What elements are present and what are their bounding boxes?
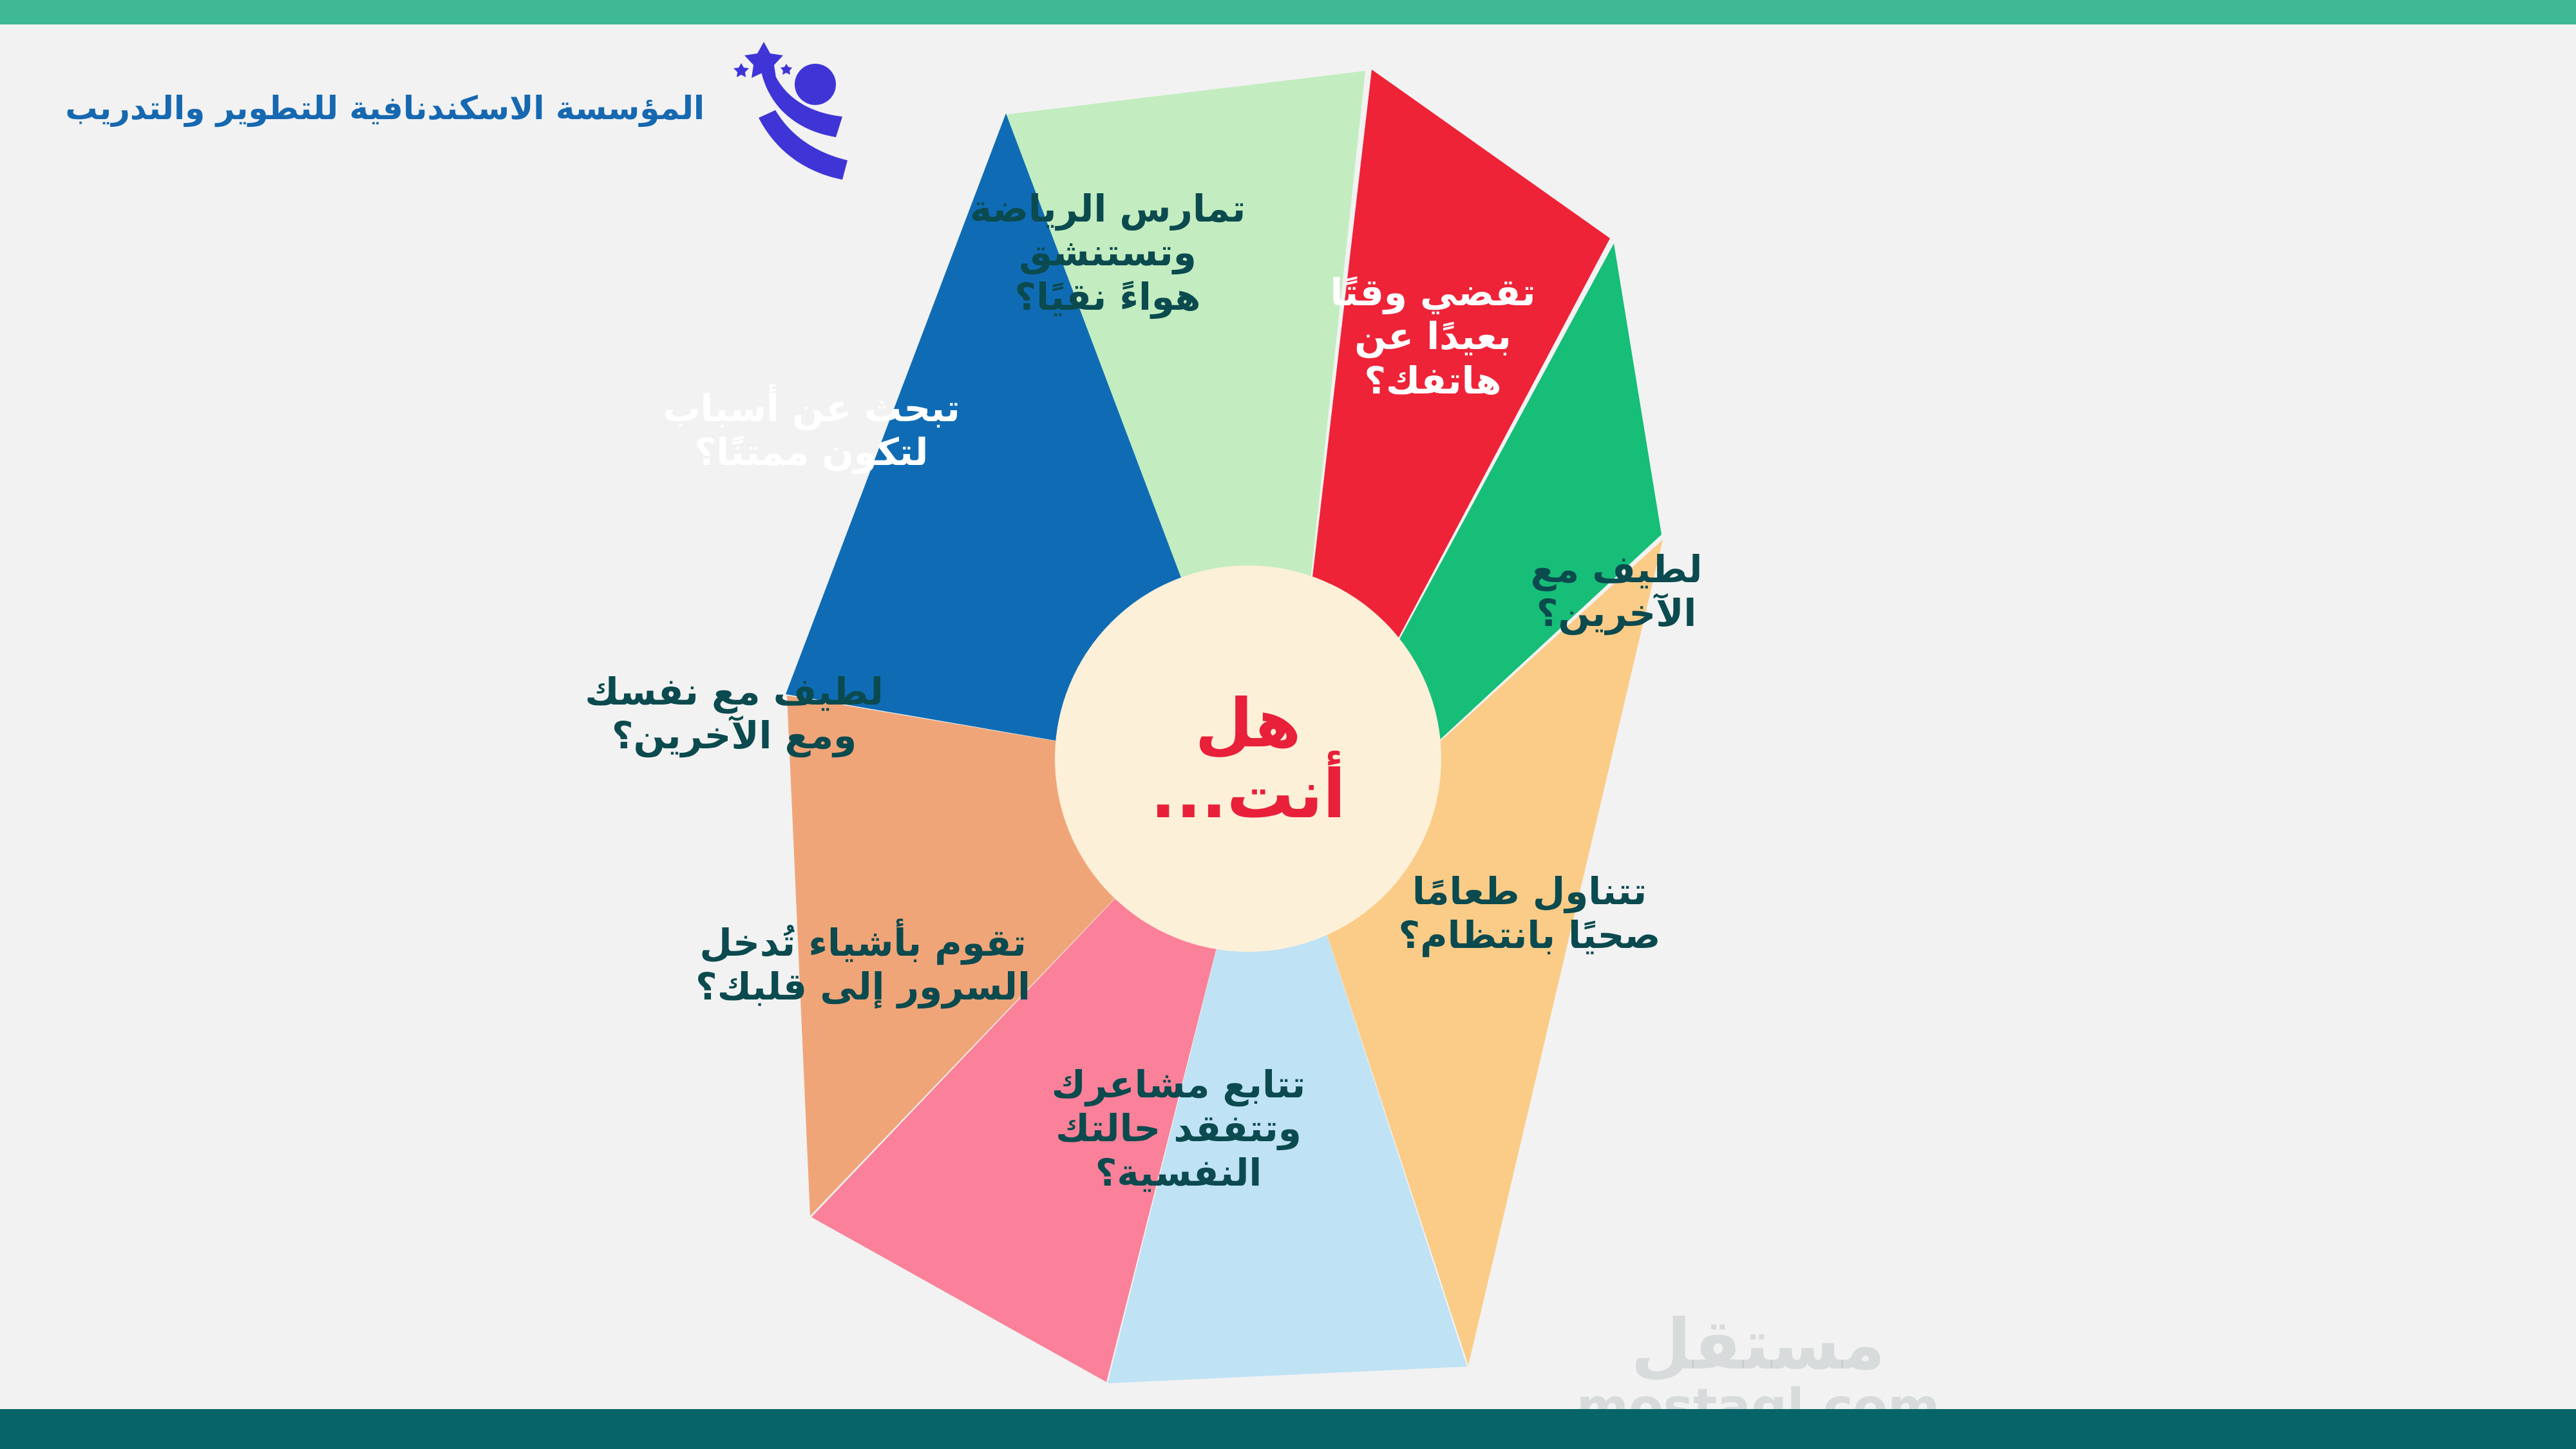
center-hub: هل أنت... xyxy=(1055,565,1441,952)
wheel-diagram: تمارس الرياضة وتستنشق هواءً نقيًا؟ تقضي … xyxy=(451,39,2125,1430)
hub-line-2: أنت... xyxy=(1150,761,1345,828)
top-accent-bar xyxy=(0,0,2576,24)
bottom-accent-bar xyxy=(0,1409,2576,1449)
hub-line-1: هل xyxy=(1195,690,1302,757)
